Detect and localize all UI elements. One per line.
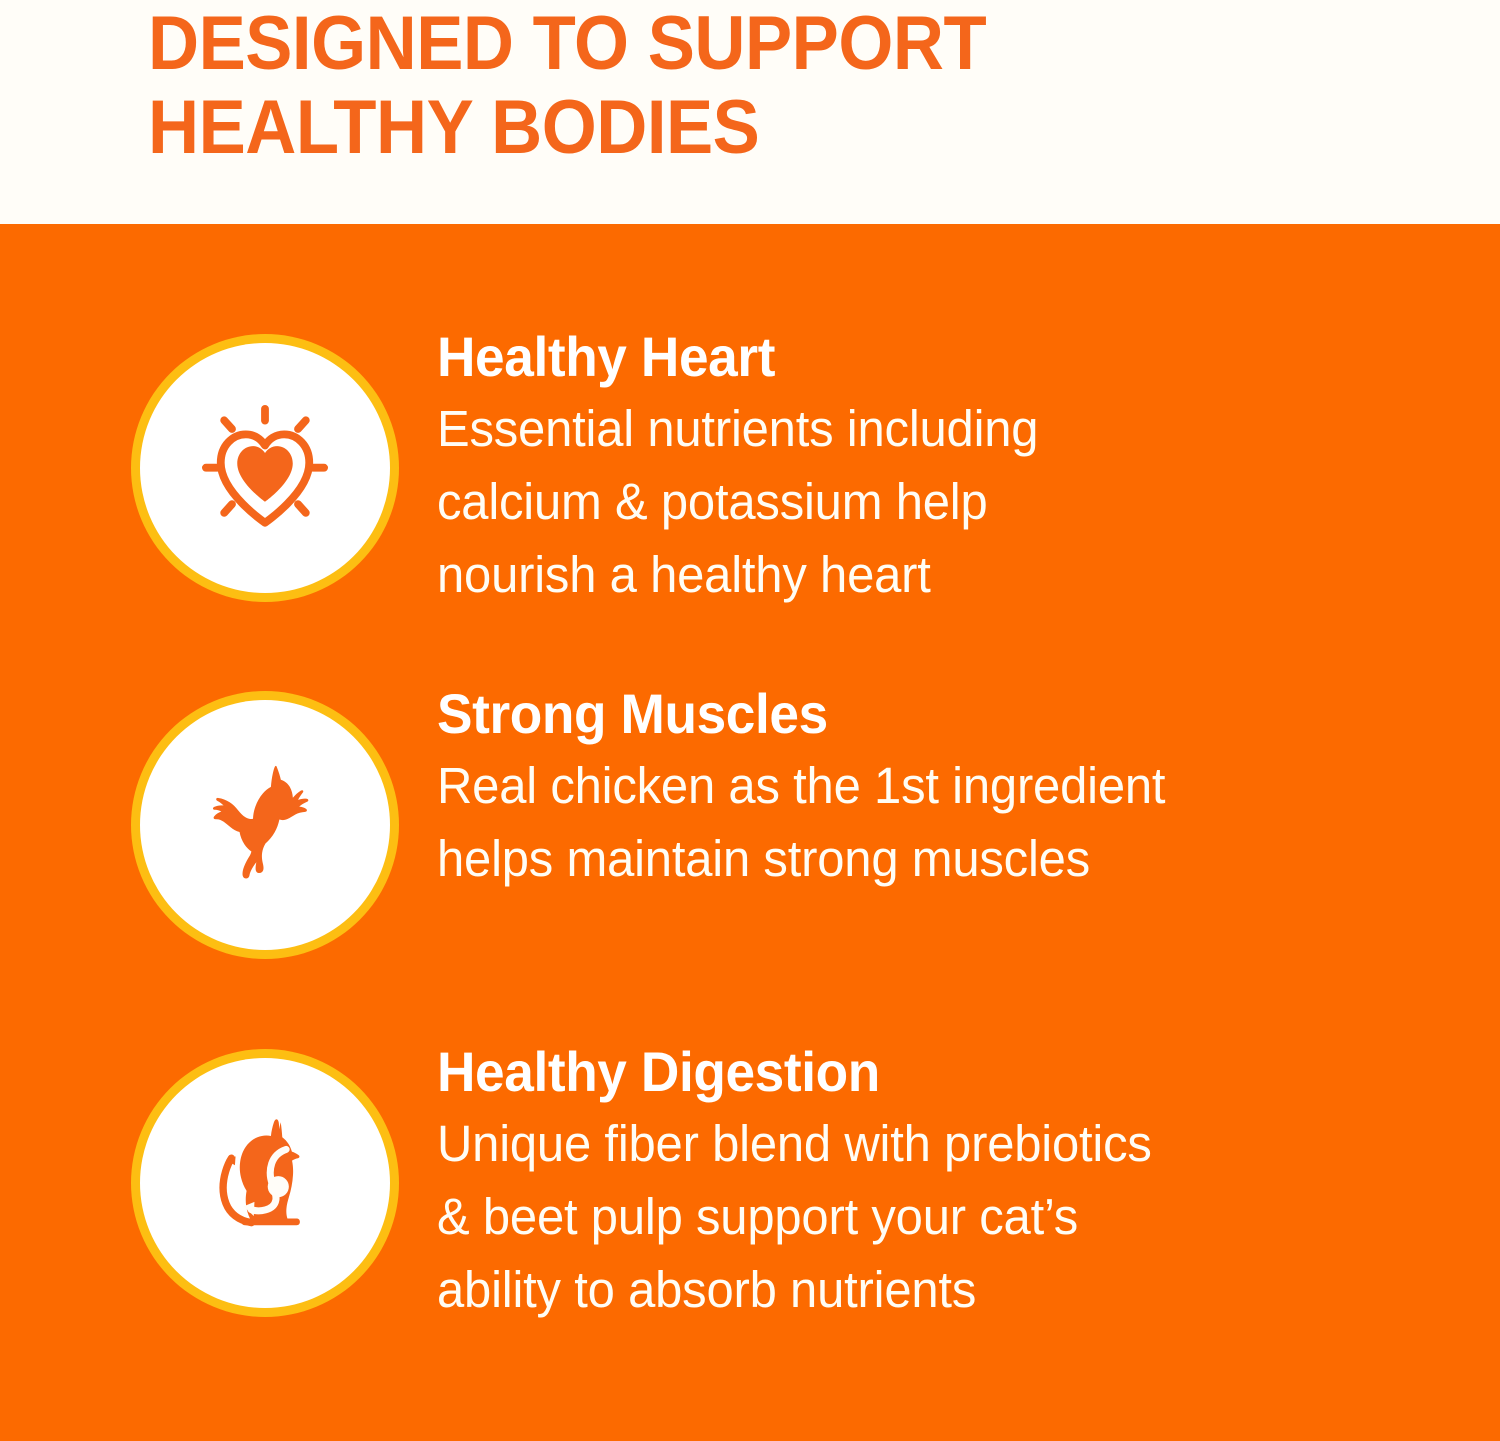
leaping-cat-icon [185, 745, 345, 905]
benefit-text-block: Healthy Heart Essential nutrients includ… [437, 326, 1447, 611]
benefit-icon-badge [140, 700, 390, 950]
sitting-cat-digestion-icon [185, 1103, 345, 1263]
benefits-infographic: DESIGNED TO SUPPORT HEALTHY BODIES [0, 0, 1500, 1441]
benefit-icon-badge [140, 1058, 390, 1308]
benefit-title: Strong Muscles [437, 683, 1397, 745]
benefit-description: Real chicken as the 1st ingredient helps… [437, 749, 1407, 895]
benefit-title: Healthy Digestion [437, 1041, 1397, 1103]
page-title: DESIGNED TO SUPPORT HEALTHY BODIES [148, 2, 1264, 170]
benefit-text-block: Healthy Digestion Unique fiber blend wit… [437, 1041, 1447, 1326]
benefit-icon-badge [140, 343, 390, 593]
benefit-description: Unique fiber blend with prebiotics & bee… [437, 1107, 1407, 1326]
radiant-heart-icon [190, 393, 340, 543]
benefit-description: Essential nutrients including calcium & … [437, 392, 1407, 611]
benefit-title: Healthy Heart [437, 326, 1397, 388]
benefit-text-block: Strong Muscles Real chicken as the 1st i… [437, 683, 1447, 895]
